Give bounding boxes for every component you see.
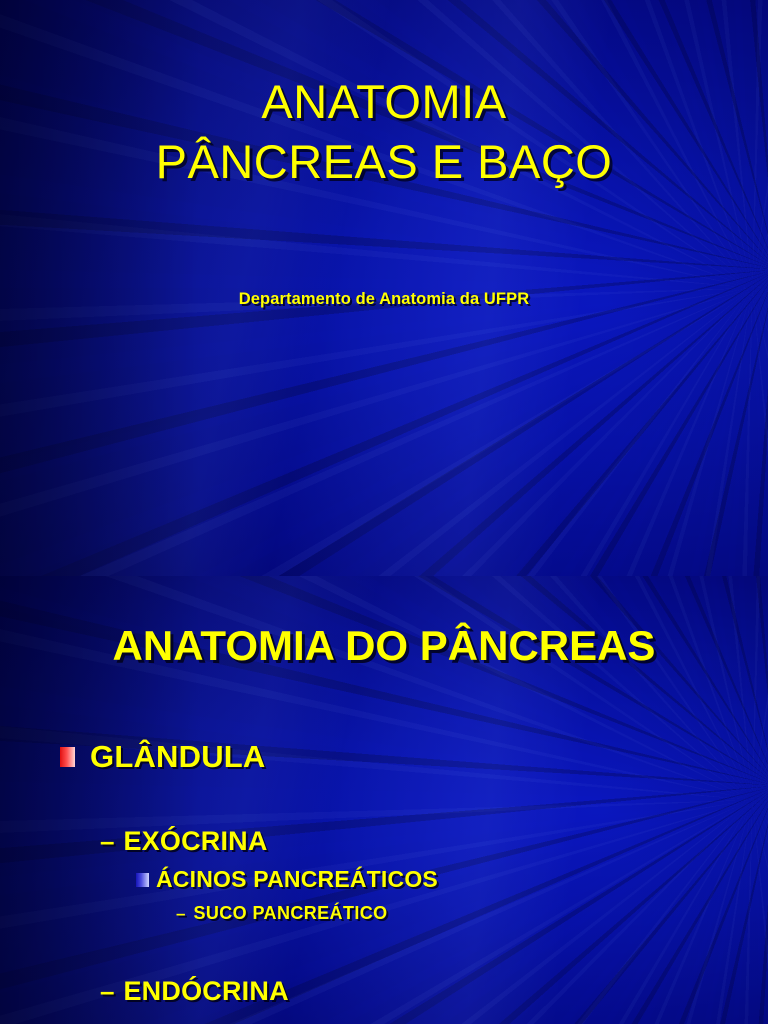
dash-bullet-icon: – <box>176 904 185 924</box>
bullet-label-acinos-pancreaticos: ÁCINOS PANCREÁTICOS <box>156 866 438 893</box>
slide1-title-line-2: PÂNCREAS E BAÇO <box>0 132 768 192</box>
slide1-subtitle: Departamento de Anatomia da UFPR <box>0 290 768 309</box>
slide-title: ANATOMIA PÂNCREAS E BAÇO Departamento de… <box>0 0 768 576</box>
bullet-label-endocrina: ENDÓCRINA <box>123 976 288 1007</box>
bullet-item-suco-pancreatico: – SUCO PANCREÁTICO <box>0 903 768 924</box>
slide2-title: ANATOMIA DO PÂNCREAS <box>0 622 768 670</box>
slide1-title-block: ANATOMIA PÂNCREAS E BAÇO <box>0 72 768 192</box>
presentation-page: ANATOMIA PÂNCREAS E BAÇO Departamento de… <box>0 0 768 1024</box>
bullet-label-exocrina: EXÓCRINA <box>123 826 267 857</box>
slide1-title-line-1: ANATOMIA <box>0 72 768 132</box>
bullet-label-glandula: GLÂNDULA <box>90 739 266 775</box>
bullet-label-suco-pancreatico: SUCO PANCREÁTICO <box>193 903 387 924</box>
square-bullet-icon <box>60 747 75 767</box>
bullet-item-endocrina: – ENDÓCRINA <box>0 976 768 1007</box>
square-bullet-icon <box>136 873 149 887</box>
dash-bullet-icon: – <box>100 826 114 857</box>
bullet-item-glandula: GLÂNDULA <box>0 736 768 778</box>
slide2-bullet-list: GLÂNDULA – EXÓCRINA ÁCINOS PANCREÁTICOS … <box>0 736 768 1007</box>
dash-bullet-icon: – <box>100 976 114 1007</box>
slide-anatomia-do-pancreas: ANATOMIA DO PÂNCREAS GLÂNDULA – EXÓCRINA… <box>0 576 768 1024</box>
bullet-item-acinos-pancreaticos: ÁCINOS PANCREÁTICOS <box>0 866 768 893</box>
bullet-item-exocrina: – EXÓCRINA <box>0 826 768 857</box>
